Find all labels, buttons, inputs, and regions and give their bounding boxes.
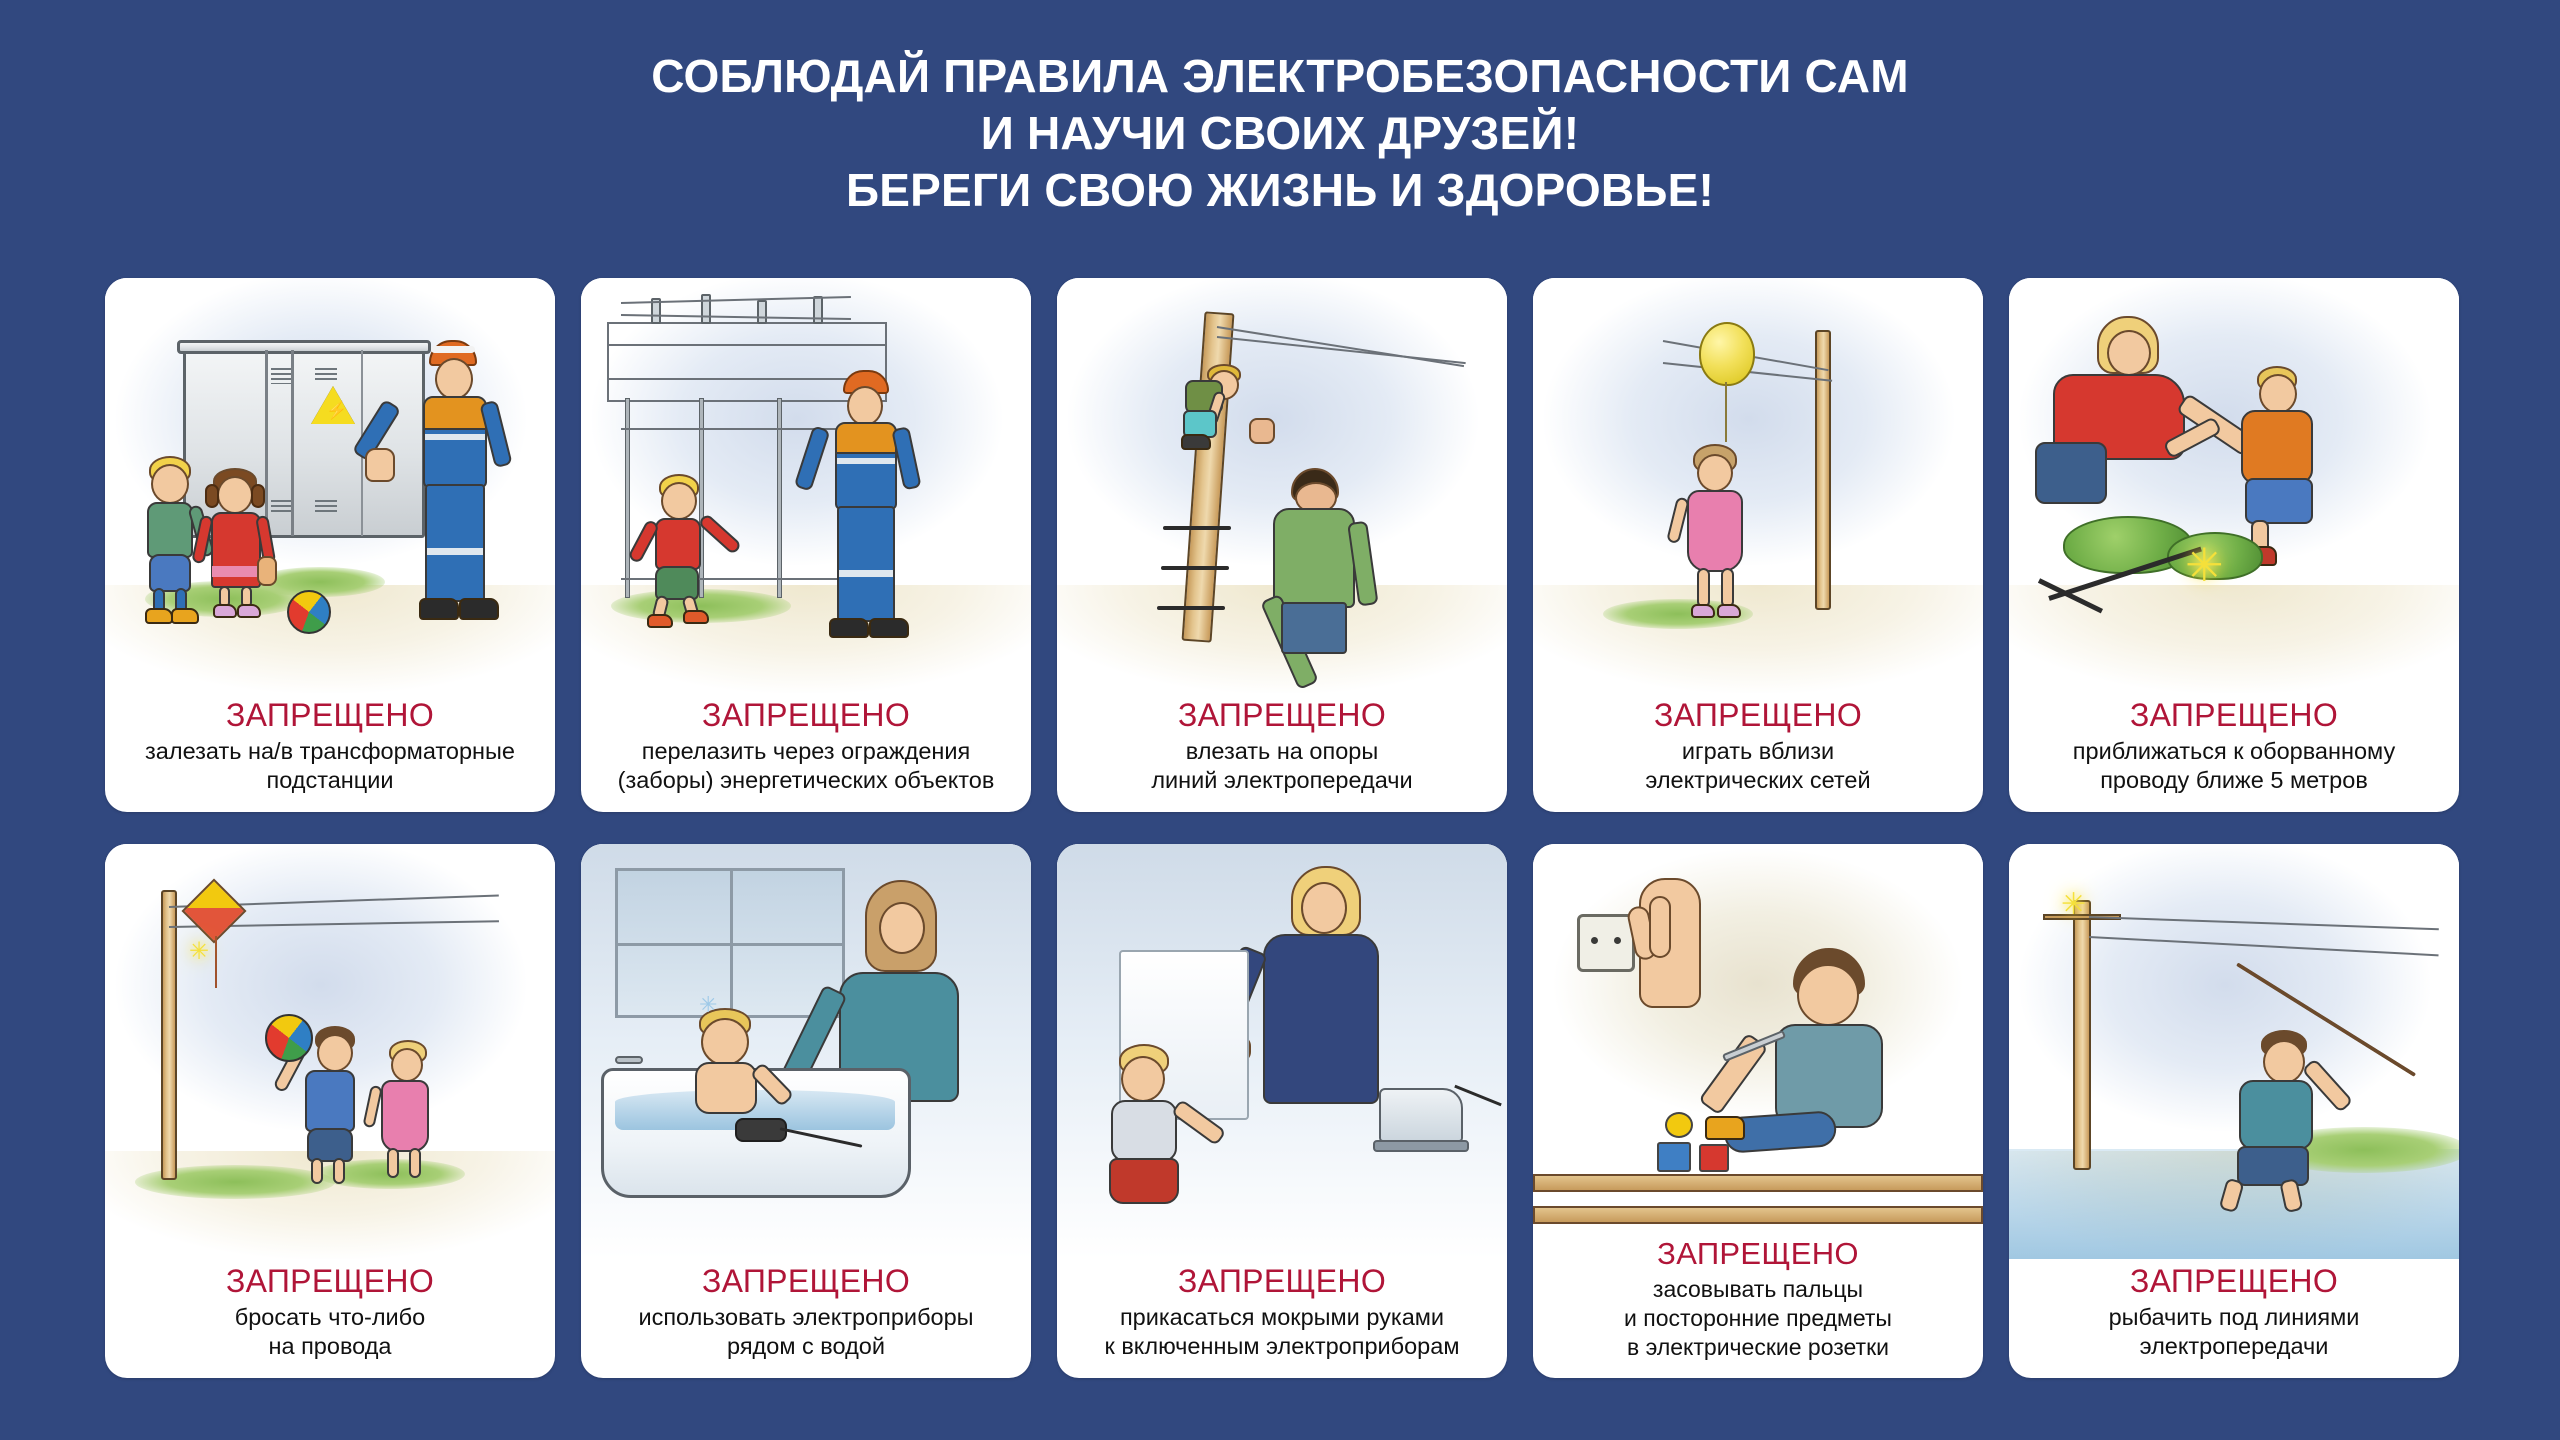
hard-hat-stripe [431,346,475,353]
boy-shorts [307,1128,353,1162]
caption-line: к включенным электроприборам [1067,1332,1497,1362]
prohibited-heading: ЗАПРЕЩЕНО [1543,1236,1973,1272]
trouser-reflective-stripe [427,548,483,555]
spark-icon: ✳ [189,940,209,964]
caption-line: засовывать пальцы [1543,1275,1973,1304]
illustration-transformer-substation [105,278,555,693]
child-seated [1739,948,1929,1188]
title-line-1: СОБЛЮДАЙ ПРАВИЛА ЭЛЕКТРОБЕЗОПАСНОСТИ САМ [0,48,2560,105]
boy-shorts [2237,1146,2309,1186]
bathroom-window [615,868,845,1018]
spark-icon: ✳ [2061,890,2086,920]
caption-line: линий электропередачи [1067,766,1497,796]
electrician-boot [869,618,909,638]
trouser-reflective-stripe [839,570,893,577]
prohibited-heading: ЗАПРЕЩЕНО [591,1263,1021,1300]
electrician [405,340,515,640]
caption-line: и посторонние предметы [1543,1304,1973,1333]
boy-child [639,474,725,624]
rule-card-10[interactable]: ✳ ЗАПРЕЩЕНО рыбачить под линиями электро… [2009,844,2459,1378]
boy-shoe [647,614,673,628]
caption-line: перелазить через ограждения [591,737,1021,767]
rule-card-8[interactable]: ЗАПРЕЩЕНО прикасаться мокрыми руками к в… [1057,844,1507,1378]
boy-leg [311,1158,323,1184]
insulator [813,296,823,324]
caption-line: в электрические розетки [1543,1333,1973,1362]
jacket-reflective-stripe [837,458,895,464]
cabinet-louver [315,368,337,382]
cabinet-door-seam [291,350,294,536]
boy-torso [695,1062,757,1114]
electrician-palm [365,448,395,482]
girl-shoe [1691,604,1715,618]
jacket-reflective-stripe [425,434,485,440]
power-line-pole [2073,900,2091,1170]
toy-block [1657,1142,1691,1172]
illustration-outlet-danger [1533,844,1983,1232]
electrician-head [847,386,883,426]
caption-line: использовать электроприборы [591,1303,1021,1333]
caption-line: проводу ближе 5 метров [2019,766,2449,796]
caption-line: рыбачить под линиями [2019,1303,2449,1333]
boy-shorts [149,554,191,592]
child-shoe [1705,1116,1745,1140]
caption-5: ЗАПРЕЩЕНО приближаться к оборванному про… [2009,693,2459,812]
thrown-ball [265,1014,313,1062]
girl-leg [387,1148,399,1178]
girl-dress [381,1080,429,1152]
caption-10: ЗАПРЕЩЕНО рыбачить под линиями электропе… [2009,1259,2459,1378]
toy-block [1665,1112,1693,1138]
rule-card-5[interactable]: ✳ ЗАПРЕЩЕНО приближаться к оборванному п… [2009,278,2459,812]
woman-head [1301,882,1347,934]
girl-pigtail [251,484,265,508]
caption-line: прикасаться мокрыми руками [1067,1303,1497,1333]
illustration-appliance-near-water: ✳ [581,844,1031,1259]
boy-shirt [305,1070,355,1132]
illustration-climbing-pole [1057,278,1507,693]
prohibited-heading: ЗАПРЕЩЕНО [591,697,1021,734]
caption-line: электрических сетей [1543,766,1973,796]
balloon-string [1725,382,1727,442]
girl-head [391,1048,423,1082]
rule-card-6[interactable]: ✳ [105,844,555,1378]
girl-shoe [1717,604,1741,618]
kite-tail [215,936,217,988]
jacket-orange-yoke [837,424,895,454]
pole-step [1161,566,1229,570]
electric-iron [1379,1088,1463,1142]
woman-trousers [2035,442,2107,504]
boy-shirt [2239,1080,2313,1150]
cabinet-louver [315,500,337,514]
rule-card-2[interactable]: ЗАПРЕЩЕНО перелазить через ограждения (з… [581,278,1031,812]
girl-child [1679,444,1759,634]
prohibited-heading: ЗАПРЕЩЕНО [2019,1263,2449,1300]
pole-step [1157,606,1225,610]
caption-line: бросать что-либо [115,1303,545,1333]
toy-ball [287,590,331,634]
cabinet-roof [177,340,431,354]
rule-card-1[interactable]: ЗАПРЕЩЕНО залезать на/в трансформаторные… [105,278,555,812]
illustration-throwing-at-wires: ✳ [105,844,555,1259]
title-line-3: БЕРЕГИ СВОЮ ЖИЗНЬ И ЗДОРОВЬЕ! [0,162,2560,219]
rule-card-7[interactable]: ✳ ЗАПРЕЩЕНО использовать электроприборы … [581,844,1031,1378]
caption-line: рядом с водой [591,1332,1021,1362]
girl-dress-sash [212,566,260,577]
prohibited-heading: ЗАПРЕЩЕНО [1067,697,1497,734]
floor-board [1533,1206,1983,1224]
prohibited-heading: ЗАПРЕЩЕНО [115,697,545,734]
electrician-boot [829,618,869,638]
title-line-2: И НАУЧИ СВОИХ ДРУЗЕЙ! [0,105,2560,162]
caption-line: залезать на/в трансформаторные [115,737,545,767]
caption-line: влезать на опоры [1067,737,1497,767]
girl-dress [1687,490,1743,572]
insulator [757,300,767,324]
man-hand [1249,418,1275,444]
illustration-fallen-wire: ✳ [2009,278,2459,693]
caption-7: ЗАПРЕЩЕНО использовать электроприборы ря… [581,1259,1031,1378]
water-splash-icon: ✳ [699,994,717,1016]
rule-card-4[interactable]: ЗАПРЕЩЕНО играть вблизи электрических се… [1533,278,1983,812]
boy-climbing [1181,364,1251,454]
boy-head [2263,1040,2305,1084]
caption-line: (заборы) энергетических объектов [591,766,1021,796]
toy-doll [257,556,277,586]
boy-shoe [145,608,173,624]
electrician-boot [459,598,499,620]
woman-head [879,902,925,954]
girl-head [217,476,253,514]
girl-child [373,1040,447,1198]
illustration-wet-hands-appliance [1057,844,1507,1259]
electrician [817,370,921,660]
boy-shoe [1181,434,1211,450]
rules-grid: ЗАПРЕЩЕНО залезать на/в трансформаторные… [105,278,2457,1378]
jacket-orange-yoke [425,398,485,430]
prohibited-heading: ЗАПРЕЩЕНО [115,1263,545,1300]
boy-shirt [147,502,193,558]
caption-3: ЗАПРЕЩЕНО влезать на опоры линий электро… [1057,693,1507,812]
rule-card-3[interactable]: ЗАПРЕЩЕНО влезать на опоры линий электро… [1057,278,1507,812]
insulator [701,294,711,324]
prohibited-heading: ЗАПРЕЩЕНО [1543,697,1973,734]
finger [1649,896,1671,958]
man-jacket [1273,508,1355,608]
electrical-outlet [1577,914,1635,972]
cabinet-louver [271,368,291,384]
boy-shirt [655,518,701,570]
girl-leg [1721,568,1734,608]
iron-base [1373,1140,1469,1152]
boy-shoe [683,610,709,624]
safety-poster: СОБЛЮДАЙ ПРАВИЛА ЭЛЕКТРОБЕЗОПАСНОСТИ САМ… [0,0,2560,1440]
spark-icon: ✳ [2185,542,2224,588]
boy-head [317,1034,353,1072]
child-head [1797,964,1859,1026]
caption-6: ЗАПРЕЩЕНО бросать что-либо на провода [105,1259,555,1378]
electrician-trousers [425,484,485,602]
boy-head [2259,374,2297,414]
caption-line: электропередачи [2019,1332,2449,1362]
rule-card-9[interactable]: ЗАПРЕЩЕНО засовывать пальцы и посторонни… [1533,844,1983,1378]
girl-shoe [237,604,261,618]
toy-block [1699,1144,1729,1172]
girl-leg [409,1148,421,1178]
caption-9: ЗАПРЕЩЕНО засовывать пальцы и посторонни… [1533,1232,1983,1378]
girl-skirt [1109,1158,1179,1204]
caption-4: ЗАПРЕЩЕНО играть вблизи электрических се… [1533,693,1983,812]
balloon [1699,322,1755,386]
boy-head [151,464,189,504]
faucet [615,1056,643,1064]
man-adult [1257,468,1377,654]
high-voltage-warning-icon [311,386,355,424]
boy-shoe [171,608,199,624]
caption-1: ЗАПРЕЩЕНО залезать на/в трансформаторные… [105,693,555,812]
girl-shoe [213,604,237,618]
man-trousers [1281,602,1347,654]
prohibited-heading: ЗАПРЕЩЕНО [2019,697,2449,734]
poster-title: СОБЛЮДАЙ ПРАВИЛА ЭЛЕКТРОБЕЗОПАСНОСТИ САМ… [0,48,2560,219]
girl-pigtail [205,484,219,508]
boy-shorts [2245,478,2313,524]
girl-head [1697,454,1733,492]
caption-line: играть вблизи [1543,737,1973,767]
caption-line: приближаться к оборванному [2019,737,2449,767]
illustration-balloon-on-wire [1533,278,1983,693]
boy-shirt [2241,410,2313,484]
boy-head [661,482,697,520]
electrician-head [435,358,473,400]
boy-head [701,1018,749,1066]
caption-2: ЗАПРЕЩЕНО перелазить через ограждения (з… [581,693,1031,812]
caption-line: на провода [115,1332,545,1362]
illustration-climbing-fence [581,278,1031,693]
girl-child [209,468,277,626]
boy-in-bath [687,1008,797,1118]
girl-leg [1697,568,1710,608]
power-line-pole [161,890,177,1180]
pole-step [1163,526,1231,530]
girl-head [1121,1056,1165,1102]
girl-dress [1111,1100,1177,1162]
woman-head [2107,330,2151,376]
gantry-rail [607,344,887,346]
caption-8: ЗАПРЕЩЕНО прикасаться мокрыми руками к в… [1057,1259,1507,1378]
electrician-trousers [837,506,895,622]
woman-jacket [1263,934,1379,1104]
illustration-fishing-under-lines: ✳ [2009,844,2459,1259]
power-line-pole [1815,330,1831,610]
girl-child [1101,1044,1211,1214]
boy-fishing [2217,1030,2347,1200]
prohibited-heading: ЗАПРЕЩЕНО [1067,1263,1497,1300]
electrician-boot [419,598,459,620]
boy-leg [333,1158,345,1184]
caption-line: подстанции [115,766,545,796]
